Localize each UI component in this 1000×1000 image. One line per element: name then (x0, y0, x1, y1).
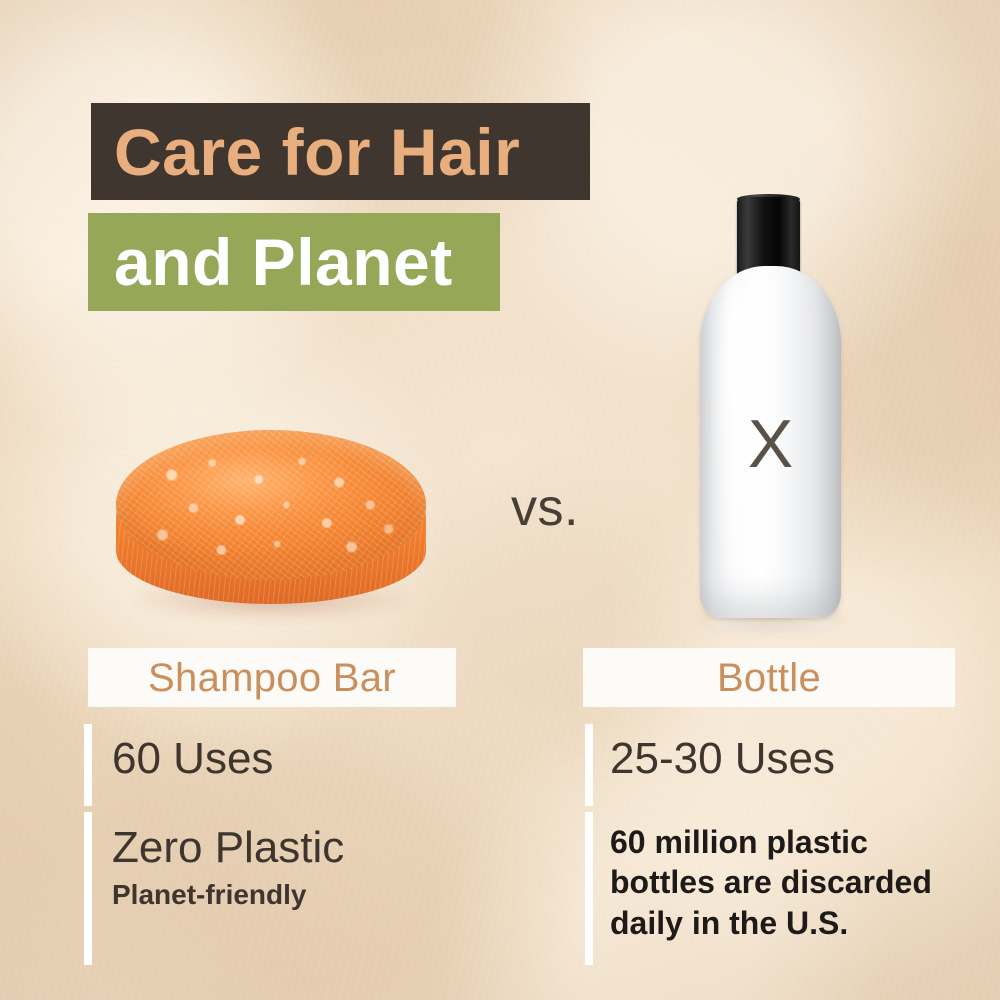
right-accent-bar-bottom (585, 812, 593, 965)
shampoo-bar-product-image (112, 424, 432, 644)
bottle-reflection (710, 620, 834, 638)
shampoo-bar-top-texture (116, 430, 426, 580)
right-body-line-2: bottles are discarded (610, 862, 970, 902)
right-body-text: 60 million plastic bottles are discarded… (610, 822, 970, 943)
left-label-banner: Shampoo Bar (88, 648, 456, 707)
left-accent-bar-bottom (84, 812, 92, 965)
right-body-line-3: daily in the U.S. (610, 903, 970, 943)
plastic-bottle-product-image: X (686, 190, 856, 640)
infographic-canvas: Care for Hair and Planet vs. X Shampoo B… (0, 0, 1000, 1000)
left-feature-subtext: Planet-friendly (112, 881, 306, 909)
right-accent-bar-top (585, 724, 593, 806)
headline-banner-primary: Care for Hair (91, 103, 590, 200)
left-uses-stat: 60 Uses (112, 737, 273, 781)
bottle-x-mark: X (700, 410, 841, 478)
left-accent-bar-top (84, 724, 92, 806)
versus-separator: vs. (470, 478, 620, 538)
right-body-line-1: 60 million plastic (610, 822, 970, 862)
left-feature-headline: Zero Plastic (112, 826, 344, 870)
right-label-banner: Bottle (583, 648, 955, 707)
headline-banner-secondary: and Planet (88, 213, 500, 311)
bottle-cap (737, 197, 800, 277)
headline-line-2: and Planet (88, 229, 453, 295)
headline-line-1: Care for Hair (91, 119, 520, 185)
left-label-text: Shampoo Bar (148, 658, 396, 698)
right-uses-stat: 25-30 Uses (610, 737, 835, 781)
right-label-text: Bottle (717, 658, 821, 698)
